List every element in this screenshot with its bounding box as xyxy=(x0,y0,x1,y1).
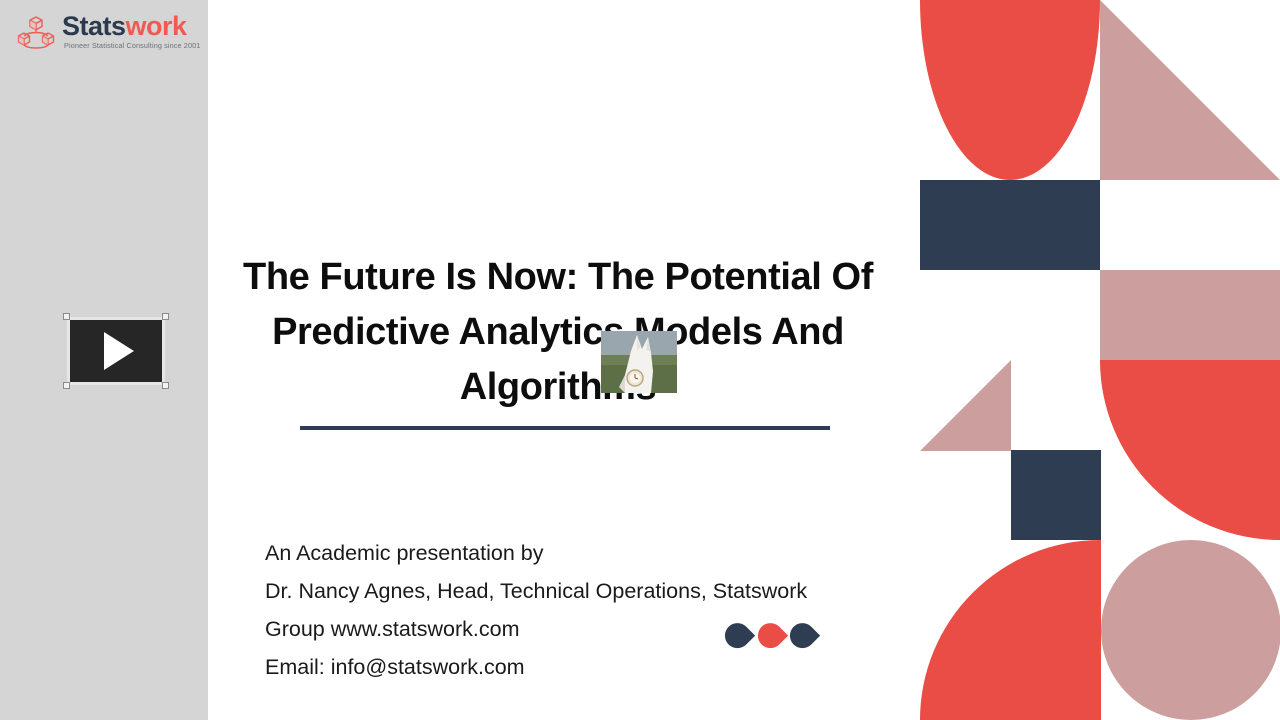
decorative-dots-group xyxy=(725,623,815,649)
logo-text: Statswork Pioneer Statistical Consulting… xyxy=(62,13,200,49)
selection-handle-top-right[interactable] xyxy=(162,313,169,320)
selection-handle-bottom-right[interactable] xyxy=(162,382,169,389)
decor-red-quarter-circle-2 xyxy=(920,540,1101,720)
logo-word-stats: Stats xyxy=(62,11,126,41)
video-placeholder[interactable] xyxy=(67,317,165,385)
logo-word-work: work xyxy=(126,11,187,41)
decor-pink-small-triangle xyxy=(920,360,1011,451)
logo-wordmark: Statswork xyxy=(62,13,200,40)
decorative-dot-navy-2 xyxy=(785,618,820,653)
selection-handle-bottom-left[interactable] xyxy=(63,382,70,389)
decor-pink-rectangle xyxy=(1100,270,1280,360)
cube-network-icon xyxy=(14,11,58,51)
white-rabbit-statue-image[interactable] xyxy=(601,331,677,393)
title-underline-rule xyxy=(300,426,830,430)
decor-navy-square xyxy=(1011,450,1101,540)
presenter-line-2: Dr. Nancy Agnes, Head, Technical Operati… xyxy=(265,572,905,610)
decor-red-quarter-circle xyxy=(1100,360,1280,540)
slide-title: The Future Is Now: The Potential Of Pred… xyxy=(208,250,908,415)
decor-pink-triangle xyxy=(1100,0,1280,180)
logo-tagline: Pioneer Statistical Consulting since 200… xyxy=(62,42,200,49)
decor-red-half-circle xyxy=(920,0,1100,180)
decor-navy-rectangle xyxy=(920,180,1100,270)
decor-pink-circle xyxy=(1101,540,1280,720)
decorative-dot-red xyxy=(752,618,787,653)
selection-handle-top-left[interactable] xyxy=(63,313,70,320)
decorative-dot-navy-1 xyxy=(720,618,755,653)
statswork-logo: Statswork Pioneer Statistical Consulting… xyxy=(14,9,194,53)
play-triangle-icon[interactable] xyxy=(104,332,134,370)
presenter-details: An Academic presentation by Dr. Nancy Ag… xyxy=(265,534,905,686)
presentation-slide: Statswork Pioneer Statistical Consulting… xyxy=(0,0,1280,720)
presenter-line-4: Email: info@statswork.com xyxy=(265,648,905,686)
video-frame[interactable] xyxy=(67,317,165,385)
presenter-line-1: An Academic presentation by xyxy=(265,534,905,572)
